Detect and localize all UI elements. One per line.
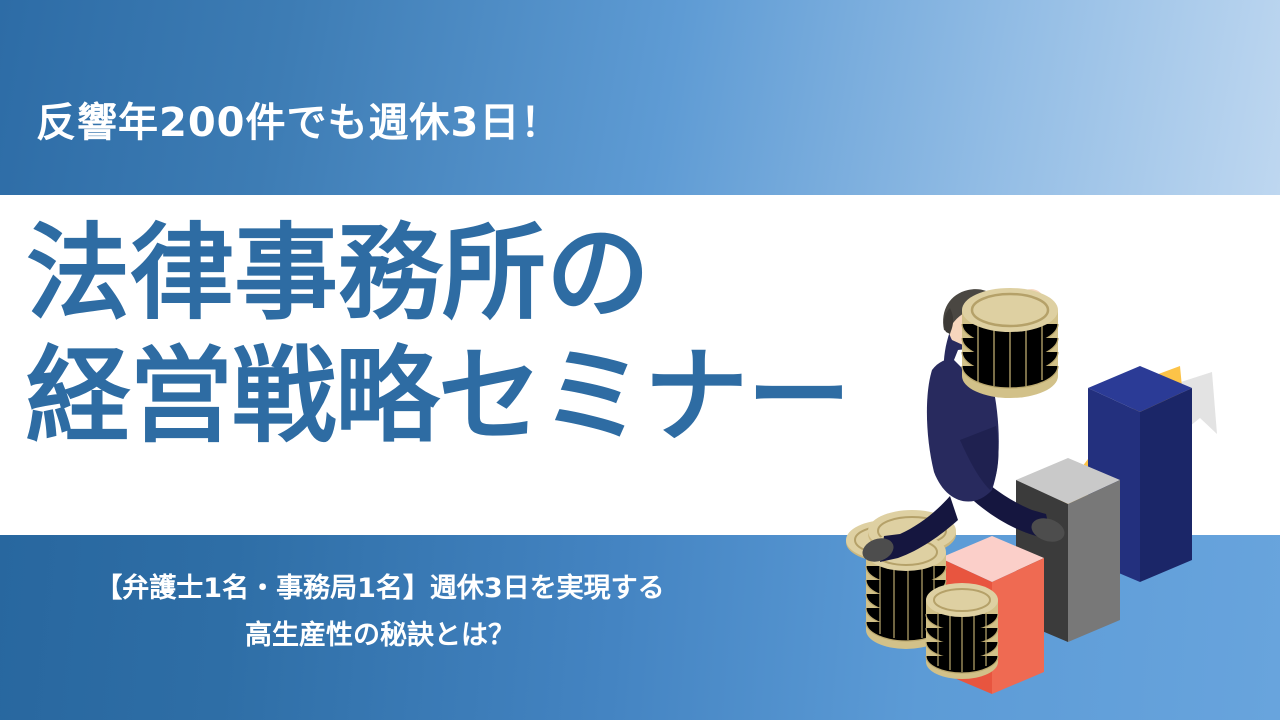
subtitle-line-1: 【弁護士1名・事務局1名】週休3日を実現する	[0, 565, 760, 612]
title-line-2: 経営戦略セミナー	[26, 335, 850, 458]
subtitle: 【弁護士1名・事務局1名】週休3日を実現する 高生産性の秘訣とは？	[0, 565, 760, 660]
title-line-1: 法律事務所の	[26, 212, 850, 335]
page-title: 法律事務所の 経営戦略セミナー	[26, 212, 850, 457]
kicker-text: 反響年200件でも週休3日！	[36, 101, 561, 145]
subtitle-line-2: 高生産性の秘訣とは？	[0, 612, 760, 659]
top-blue-band	[0, 0, 1280, 195]
seminar-poster: 反響年200件でも週休3日！ 法律事務所の 経営戦略セミナー 【弁護士1名・事務…	[0, 0, 1280, 720]
